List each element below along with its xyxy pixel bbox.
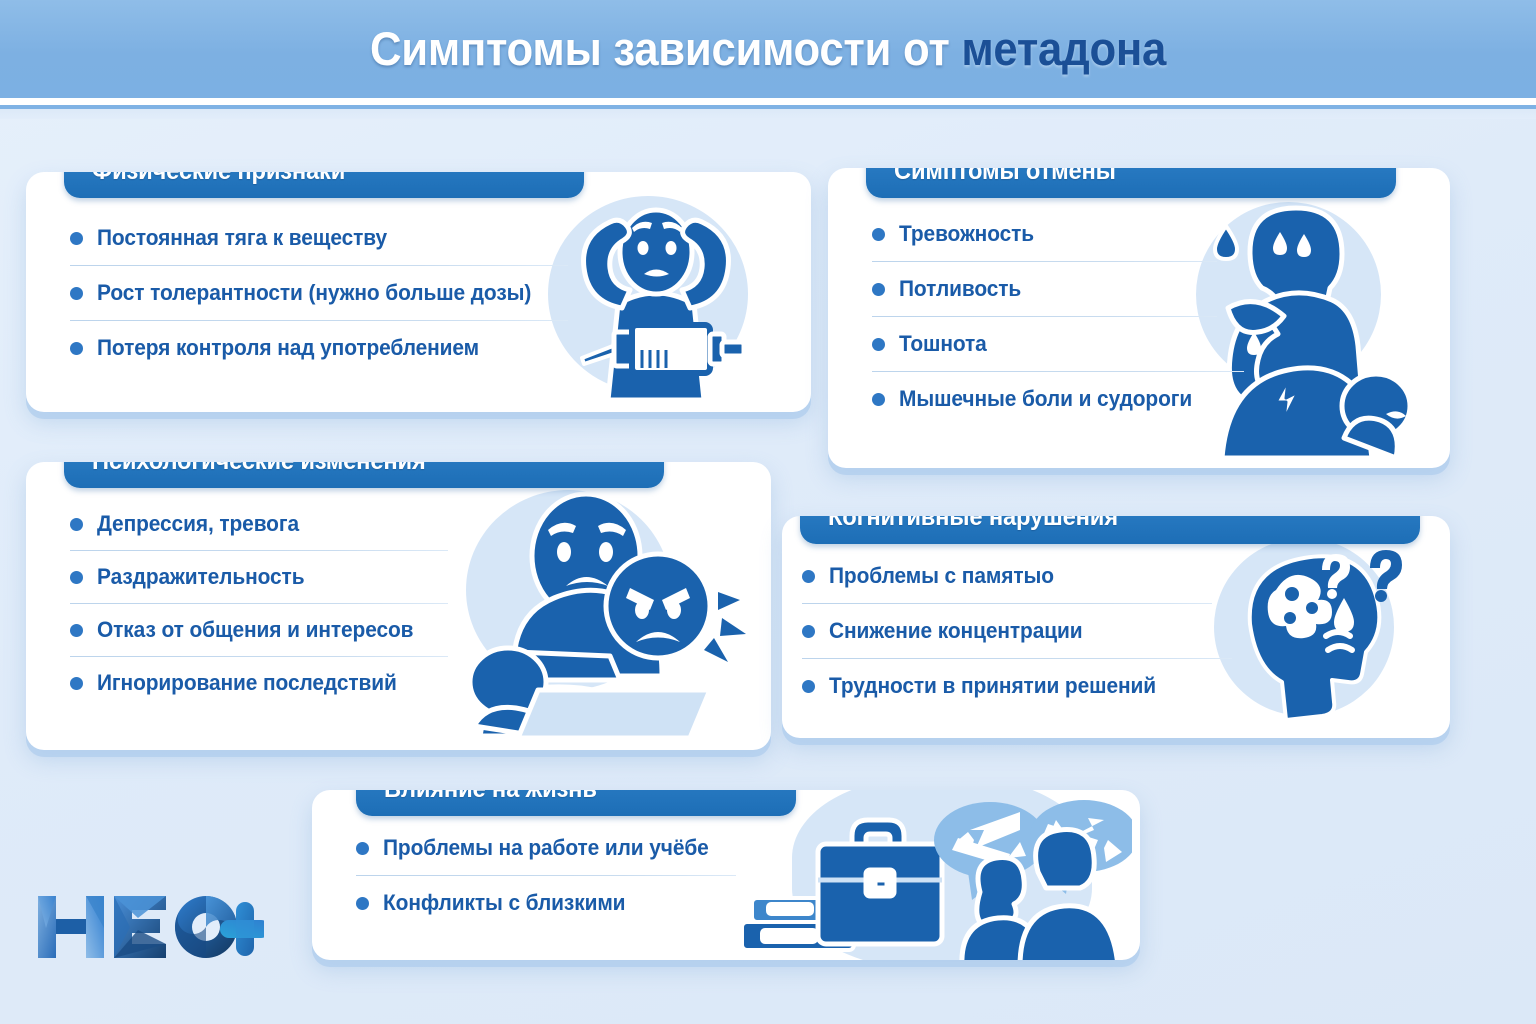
card-title: Влияние на жизнь xyxy=(384,790,597,804)
list-item-label: Тревожность xyxy=(899,220,1034,248)
card-header-cognitive-impairment: Когнитивные нарушения xyxy=(800,516,1420,544)
stressed-person-with-syringe-icon xyxy=(546,182,766,404)
card-title: Когнитивные нарушения xyxy=(828,516,1118,532)
banner-divider-white xyxy=(0,98,1536,105)
banner-divider-fade xyxy=(0,109,1536,119)
list-item-label: Раздражительность xyxy=(97,563,304,591)
sad-and-angry-faces-icon xyxy=(446,476,746,738)
list-item-label: Рост толерантности (нужно больше дозы) xyxy=(97,279,531,307)
list-item: Раздражительность xyxy=(70,563,460,591)
bullet-dot-icon xyxy=(356,842,369,855)
list-item-label: Игнорирование последствий xyxy=(97,669,397,697)
list-item-label: Постоянная тяга к веществу xyxy=(97,224,387,252)
card-header-psychological-changes: Психологические изменения xyxy=(64,462,664,488)
list-item: Депрессия, тревога xyxy=(70,510,460,538)
bullet-dot-icon xyxy=(70,518,83,531)
list-item-label: Мышечные боли и судороги xyxy=(899,385,1192,413)
list-item: Потливость xyxy=(872,275,1232,303)
list-item-label: Проблемы на работе или учёбе xyxy=(383,834,709,862)
list-item: Конфликты с близкими xyxy=(356,889,756,917)
card-life-impact: Влияние на жизнь Проблемы на работе или … xyxy=(312,790,1140,960)
card-title: Симптомы отмены xyxy=(894,168,1116,186)
bullet-dot-icon xyxy=(872,338,885,351)
card-header-physical-signs: Физические признаки xyxy=(64,172,584,198)
list-item-label: Тошнота xyxy=(899,330,987,358)
bullet-dot-icon xyxy=(872,393,885,406)
list-divider xyxy=(872,371,1244,372)
bullet-dot-icon xyxy=(802,625,815,638)
list-item-label: Проблемы с памятыо xyxy=(829,562,1054,590)
card-header-withdrawal-symptoms: Симптомы отмены xyxy=(866,168,1396,198)
list-item-label: Конфликты с близкими xyxy=(383,889,625,917)
briefcase-books-and-arguing-people-icon xyxy=(732,790,1132,960)
list-item: Проблемы с памятыо xyxy=(802,562,1222,590)
list-divider xyxy=(70,603,448,604)
card-withdrawal-symptoms: Симптомы отмены Тревожность Потливость Т… xyxy=(828,168,1450,468)
card-psychological-changes: Психологические изменения Депрессия, тре… xyxy=(26,462,771,750)
list-item: Тревожность xyxy=(872,220,1232,248)
list-item-label: Отказ от общения и интересов xyxy=(97,616,413,644)
bullet-list-life-impact: Проблемы на работе или учёбе Конфликты с… xyxy=(356,834,756,917)
card-header-life-impact: Влияние на жизнь xyxy=(356,790,796,816)
bullet-dot-icon xyxy=(356,897,369,910)
page-title: Симптомы зависимости от метадона xyxy=(54,10,1482,88)
list-item-label: Потеря контроля над употреблением xyxy=(97,334,479,362)
card-physical-signs: Физические признаки Постоянная тяга к ве… xyxy=(26,172,811,412)
bullet-dot-icon xyxy=(872,228,885,241)
list-item: Рост толерантности (нужно больше дозы) xyxy=(70,279,570,307)
bullet-dot-icon xyxy=(70,287,83,300)
page-title-accent: метадона xyxy=(961,22,1166,75)
list-divider xyxy=(70,320,568,321)
list-divider xyxy=(356,875,736,876)
list-item-label: Снижение концентрации xyxy=(829,617,1082,645)
list-divider xyxy=(872,316,1217,317)
bullet-list-cognitive-impairment: Проблемы с памятыо Снижение концентрации… xyxy=(802,562,1222,700)
list-item-label: Трудности в принятии решений xyxy=(829,672,1156,700)
list-divider xyxy=(802,603,1212,604)
infographic-poster: Симптомы зависимости от метадона xyxy=(0,0,1536,1024)
card-cognitive-impairment: Когнитивные нарушения Проблемы с памятыо… xyxy=(782,516,1450,738)
neo-plus-logo xyxy=(34,888,264,966)
list-divider xyxy=(70,656,448,657)
list-item: Игнорирование последствий xyxy=(70,669,460,697)
list-item: Трудности в принятии решений xyxy=(802,672,1222,700)
bullet-dot-icon xyxy=(802,680,815,693)
list-divider xyxy=(70,550,448,551)
list-divider xyxy=(872,261,1217,262)
bullet-dot-icon xyxy=(70,624,83,637)
bullet-list-physical-signs: Постоянная тяга к веществу Рост толерант… xyxy=(70,224,570,362)
list-item-label: Потливость xyxy=(899,275,1021,303)
list-item: Снижение концентрации xyxy=(802,617,1222,645)
bullet-dot-icon xyxy=(70,677,83,690)
head-with-brain-and-question-marks-icon xyxy=(1214,532,1414,732)
card-title: Физические признаки xyxy=(92,172,345,186)
list-item-label: Депрессия, тревога xyxy=(97,510,299,538)
list-item: Потеря контроля над употреблением xyxy=(70,334,570,362)
list-divider xyxy=(70,265,568,266)
card-title: Психологические изменения xyxy=(92,462,426,476)
bullet-dot-icon xyxy=(70,342,83,355)
bullet-list-withdrawal-symptoms: Тревожность Потливость Тошнота Мышечные … xyxy=(872,220,1232,413)
bullet-list-psychological-changes: Депрессия, тревога Раздражительность Отк… xyxy=(70,510,460,697)
list-item: Мышечные боли и судороги xyxy=(872,385,1232,413)
bullet-dot-icon xyxy=(70,571,83,584)
page-title-main: Симптомы зависимости от xyxy=(370,22,961,75)
list-item: Проблемы на работе или учёбе xyxy=(356,834,756,862)
list-item: Отказ от общения и интересов xyxy=(70,616,460,644)
list-item: Постоянная тяга к веществу xyxy=(70,224,570,252)
bullet-dot-icon xyxy=(70,232,83,245)
list-divider xyxy=(802,658,1232,659)
bullet-dot-icon xyxy=(802,570,815,583)
bullet-dot-icon xyxy=(872,283,885,296)
list-item: Тошнота xyxy=(872,330,1232,358)
